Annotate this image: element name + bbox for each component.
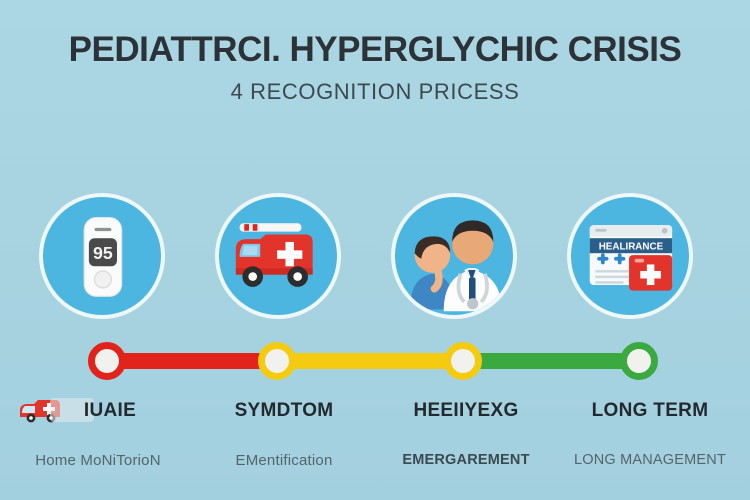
timeline-segment-3 xyxy=(458,353,638,369)
step-label-4: LONG TERM LONG MANAGEMENT xyxy=(556,398,744,468)
step-subheading-2: EMentification xyxy=(190,452,378,469)
step-subheading-4: LONG MANAGEMENT xyxy=(556,452,744,468)
infographic-canvas: PEDIATTRCI. HYPERGLYCHIC CRISIS 4 RECOGN… xyxy=(0,0,750,500)
timeline-node-2[interactable] xyxy=(258,342,296,380)
page-subtitle: 4 RECOGNITION PRICESS xyxy=(0,79,750,105)
step-heading-3: HEEIIYEXG xyxy=(372,398,560,424)
step-subheading-1: Home MoNiTorioN xyxy=(4,452,192,469)
step-heading-1: IUAIE xyxy=(4,398,192,424)
timeline-segment-2 xyxy=(272,353,462,369)
label-row: IUAIE Home MoNiTorioN SYMDTOM EMentifica… xyxy=(0,398,750,493)
step-icon-1[interactable]: 95 xyxy=(8,193,196,323)
timeline-node-3[interactable] xyxy=(444,342,482,380)
doctor-and-child-icon xyxy=(391,193,517,319)
timeline-segment-1 xyxy=(104,353,276,369)
step-icon-2[interactable] xyxy=(184,193,372,323)
step-heading-2: SYMDTOM xyxy=(190,398,378,424)
step-icon-4[interactable]: HEALIRANCE xyxy=(536,193,724,323)
progress-timeline xyxy=(0,334,750,384)
step-heading-4: LONG TERM xyxy=(556,398,744,424)
step-label-3: HEEIIYEXG EMERGAREMENT xyxy=(372,398,560,468)
step-heading-2-text: SYMDTOM xyxy=(235,400,334,421)
ambulance-icon xyxy=(215,193,341,319)
step-icon-3[interactable] xyxy=(360,193,548,323)
health-insurance-document-icon: HEALIRANCE xyxy=(567,193,693,319)
svg-text:HEALIRANCE: HEALIRANCE xyxy=(599,241,664,252)
step-subheading-3: EMERGAREMENT xyxy=(372,452,560,468)
step-heading-4-text: LONG TERM xyxy=(592,400,709,421)
timeline-node-1[interactable] xyxy=(88,342,126,380)
step-heading-3-text: HEEIIYEXG xyxy=(413,400,518,421)
glucose-meter-icon: 95 xyxy=(39,193,165,319)
step-heading-1-text: IUAIE xyxy=(84,400,136,421)
svg-text:95: 95 xyxy=(93,243,113,263)
step-label-2: SYMDTOM EMentification xyxy=(190,398,378,469)
timeline-node-4[interactable] xyxy=(620,342,658,380)
title-block: PEDIATTRCI. HYPERGLYCHIC CRISIS 4 RECOGN… xyxy=(0,32,750,105)
page-title: PEDIATTRCI. HYPERGLYCHIC CRISIS xyxy=(0,32,750,69)
step-label-1: IUAIE Home MoNiTorioN xyxy=(4,398,192,469)
icon-row: 95 xyxy=(0,193,750,323)
